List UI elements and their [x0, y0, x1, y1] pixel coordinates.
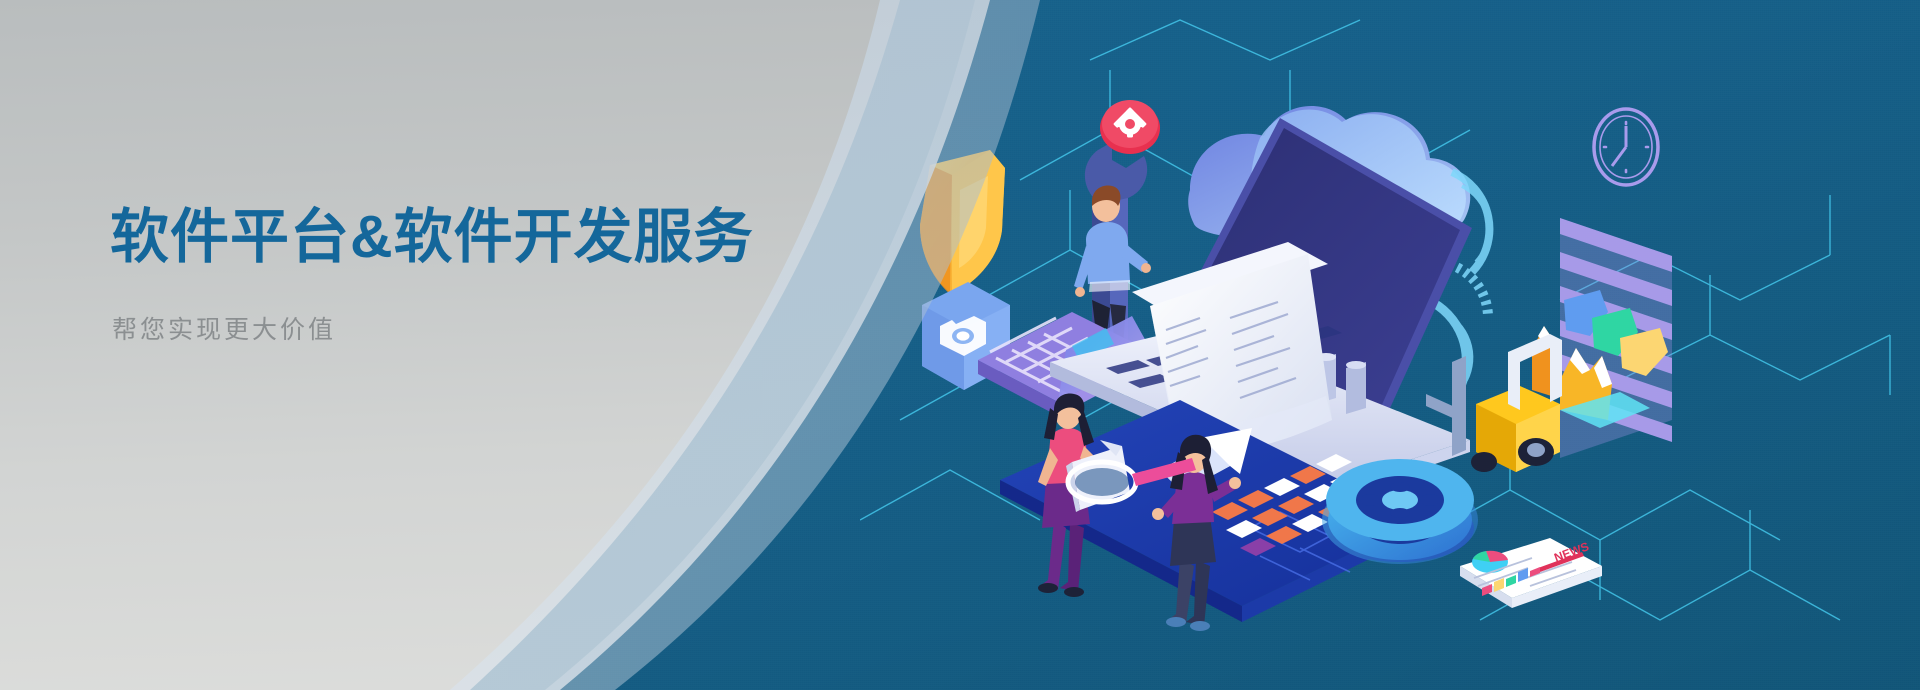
hero-copy: 软件平台&软件开发服务 帮您实现更大价值 — [110, 205, 830, 346]
gear-stack-icon — [1322, 459, 1478, 564]
page-subtitle: 帮您实现更大价值 — [112, 310, 830, 346]
clock-icon — [1594, 109, 1658, 185]
hero-illustration: NEWS — [860, 0, 1920, 690]
pie-chart — [1472, 551, 1508, 573]
hero-banner: NEWS — [0, 0, 1920, 690]
striped-panel — [1560, 218, 1672, 458]
news-report-card: NEWS — [1460, 538, 1602, 608]
gear-badge-icon — [1100, 100, 1160, 154]
analyst-figure — [1038, 394, 1130, 597]
page-title: 软件平台&软件开发服务 — [110, 205, 830, 270]
